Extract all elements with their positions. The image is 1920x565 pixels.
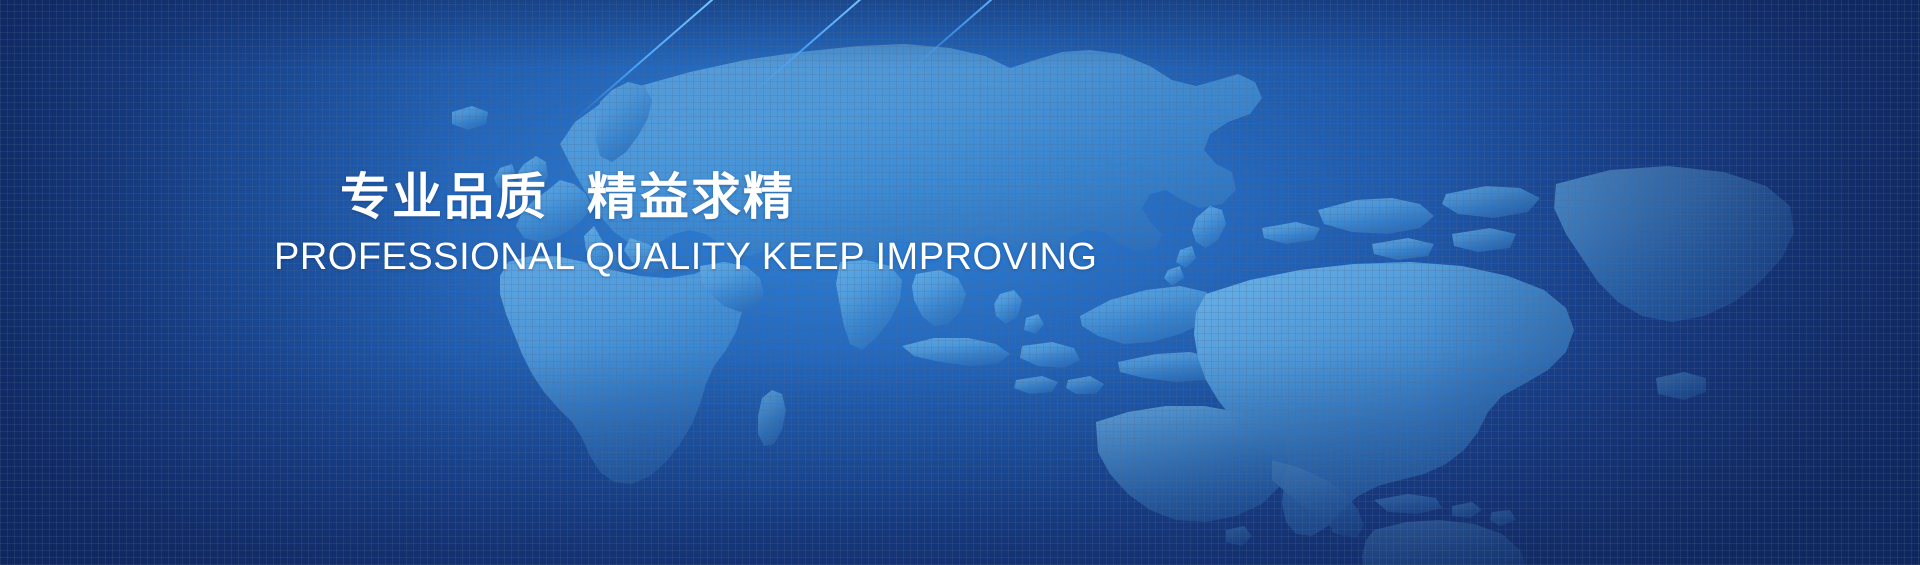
grid-texture <box>0 0 1920 565</box>
banner-copy: 专业品质 精益求精 PROFESSIONAL QUALITY KEEP IMPR… <box>274 168 1174 280</box>
headline-chinese: 专业品质 精益求精 <box>274 168 1174 227</box>
hero-banner: 专业品质 精益求精 PROFESSIONAL QUALITY KEEP IMPR… <box>0 0 1920 565</box>
headline-english: PROFESSIONAL QUALITY KEEP IMPROVING <box>274 235 1174 280</box>
